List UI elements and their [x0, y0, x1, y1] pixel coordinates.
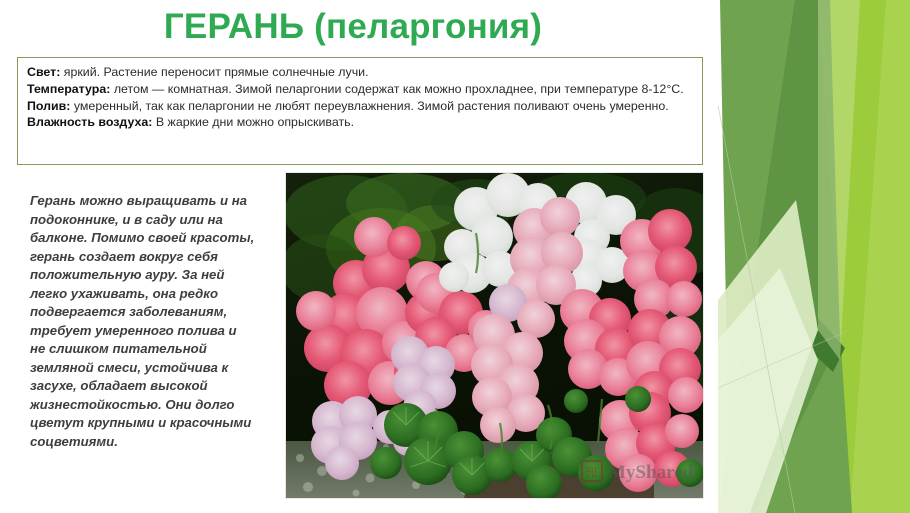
description-paragraph: Герань можно выращивать и на подоконнике…	[30, 192, 255, 451]
geranium-photo: 兜 MyShared	[286, 173, 703, 498]
deco-shape-green-dark	[718, 0, 840, 513]
deco-hairline-2	[718, 330, 850, 388]
deco-hairline-1	[718, 105, 795, 513]
deco-shape-green-main	[720, 0, 852, 513]
slide: ГЕРАНЬ (пеларгония) Свет: яркий. Растени…	[0, 0, 910, 513]
deco-shape-pale-band	[718, 200, 818, 513]
care-text-light: яркий. Растение переносит прямые солнечн…	[60, 65, 368, 79]
care-row-watering: Полив: умеренный, так как пеларгонии не …	[27, 98, 693, 115]
geranium-photo-illustration: 兜 MyShared	[286, 173, 703, 498]
care-text-temperature: летом — комнатная. Зимой пеларгонии соде…	[110, 82, 683, 96]
care-label-temperature: Температура:	[27, 82, 110, 96]
care-row-light: Свет: яркий. Растение переносит прямые с…	[27, 64, 693, 81]
page-title: ГЕРАНЬ (пеларгония)	[0, 6, 706, 48]
deco-shape-lime-edge	[850, 0, 910, 513]
care-label-humidity: Влажность воздуха:	[27, 115, 152, 129]
svg-text:兜: 兜	[585, 464, 597, 479]
deco-shape-verypale-band	[718, 268, 818, 513]
care-label-light: Свет:	[27, 65, 60, 79]
care-text-humidity: В жаркие дни можно опрыскивать.	[152, 115, 354, 129]
deco-shape-pale-upper	[818, 0, 860, 360]
deco-shape-green-deep	[812, 318, 845, 372]
care-row-temperature: Температура: летом — комнатная. Зимой пе…	[27, 81, 693, 98]
care-label-watering: Полив:	[27, 99, 70, 113]
decorative-green-panel	[700, 0, 910, 513]
care-text-watering: умеренный, так как пеларгонии не любят п…	[70, 99, 668, 113]
care-info-box: Свет: яркий. Растение переносит прямые с…	[17, 57, 703, 165]
deco-shape-lime-right	[792, 0, 910, 513]
care-row-humidity: Влажность воздуха: В жаркие дни можно оп…	[27, 114, 693, 131]
svg-text:MyShared: MyShared	[608, 462, 694, 483]
